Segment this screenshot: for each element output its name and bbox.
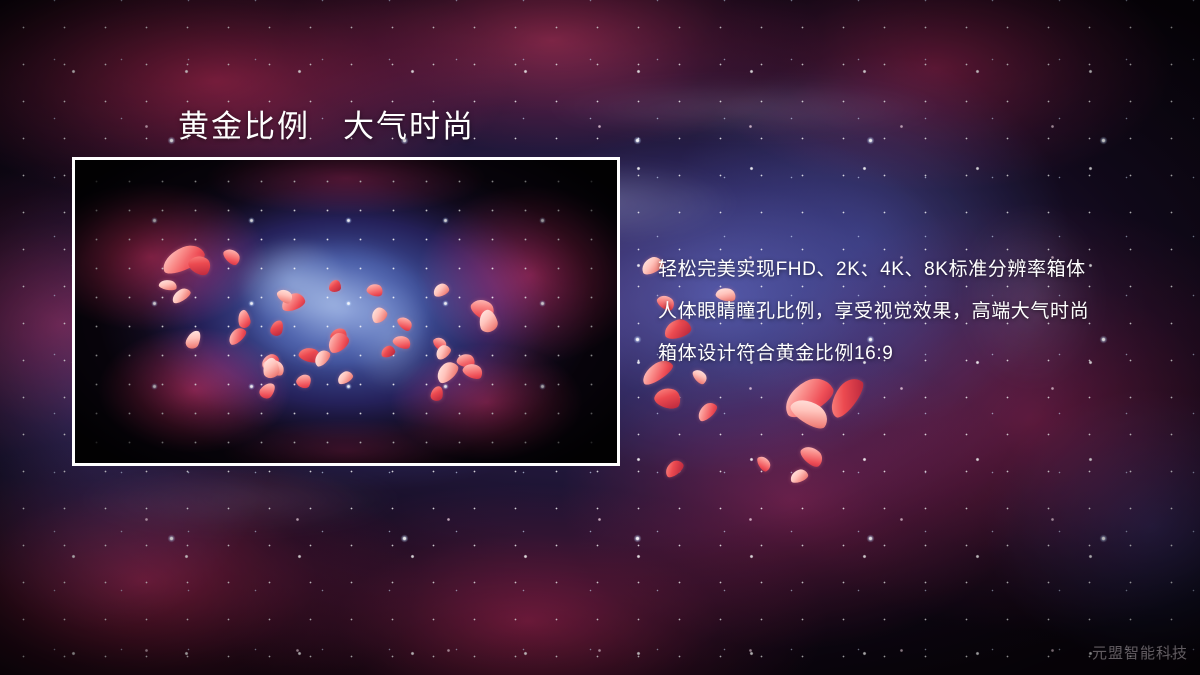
photo-petal (221, 245, 243, 267)
photo-petal (186, 251, 214, 278)
slide-canvas: 黄金比例 大气时尚 (0, 0, 1200, 675)
photo-petal (329, 280, 341, 292)
photo-stars (75, 160, 617, 463)
photo-petal (395, 314, 414, 333)
photo-petal (158, 241, 207, 278)
photo-petal (170, 286, 193, 306)
photo-base-gradient (75, 160, 617, 463)
photo-petal (262, 357, 281, 379)
background-petal (755, 454, 772, 473)
photo-petal (430, 385, 444, 402)
photo-petal (369, 305, 390, 325)
body-copy: 轻松完美实现FHD、2K、4K、8K标准分辨率箱体 人体眼睛瞳孔比例，享受视觉效… (658, 249, 1178, 375)
photo-petal (259, 352, 280, 370)
photo-petal (311, 347, 332, 368)
photo-petal (275, 286, 295, 306)
page-title: 黄金比例 大气时尚 (178, 101, 475, 146)
photo-petal (158, 278, 178, 292)
photo-petal (335, 369, 354, 386)
photo-frame (72, 157, 620, 466)
photo-bright-core (75, 160, 617, 463)
photo-petal (279, 291, 307, 314)
photo-petal (269, 319, 285, 338)
photo-petal (184, 328, 203, 350)
photo-petal (236, 309, 251, 329)
photo-petal (329, 326, 349, 346)
body-line: 人体眼睛瞳孔比例，享受视觉效果，高端大气时尚 (658, 291, 1178, 333)
photo-petal (433, 358, 462, 386)
photo-petal (468, 295, 498, 324)
photo-petal (324, 329, 352, 355)
background-petal (652, 384, 683, 412)
background-petal (824, 373, 868, 421)
background-petal (789, 468, 810, 485)
photo-petal (456, 352, 477, 369)
photo-petal (365, 282, 384, 299)
body-line: 轻松完美实现FHD、2K、4K、8K标准分辨率箱体 (658, 249, 1178, 291)
photo-petal (380, 344, 396, 358)
watermark: 元盟智能科技 (1092, 642, 1188, 663)
photo-petal (391, 333, 412, 351)
photo-petal (257, 380, 278, 401)
photo-petal (476, 308, 499, 334)
photo-petal (225, 325, 248, 347)
photo-red-nebula (75, 160, 617, 463)
photo-petal (431, 282, 450, 299)
background-petal (778, 372, 838, 423)
body-line: 箱体设计符合黄金比例16:9 (658, 333, 1178, 375)
photo-petal (433, 342, 453, 361)
photo-image (75, 160, 617, 463)
background-petal (798, 442, 826, 470)
background-petal (662, 457, 686, 479)
photo-vignette (75, 160, 617, 463)
photo-petal (431, 335, 448, 353)
background-petal (787, 393, 832, 434)
photo-petal (461, 360, 485, 381)
photo-petal (261, 355, 287, 378)
photo-petal (297, 345, 322, 365)
photo-petal (295, 372, 314, 391)
background-petal (694, 399, 719, 423)
